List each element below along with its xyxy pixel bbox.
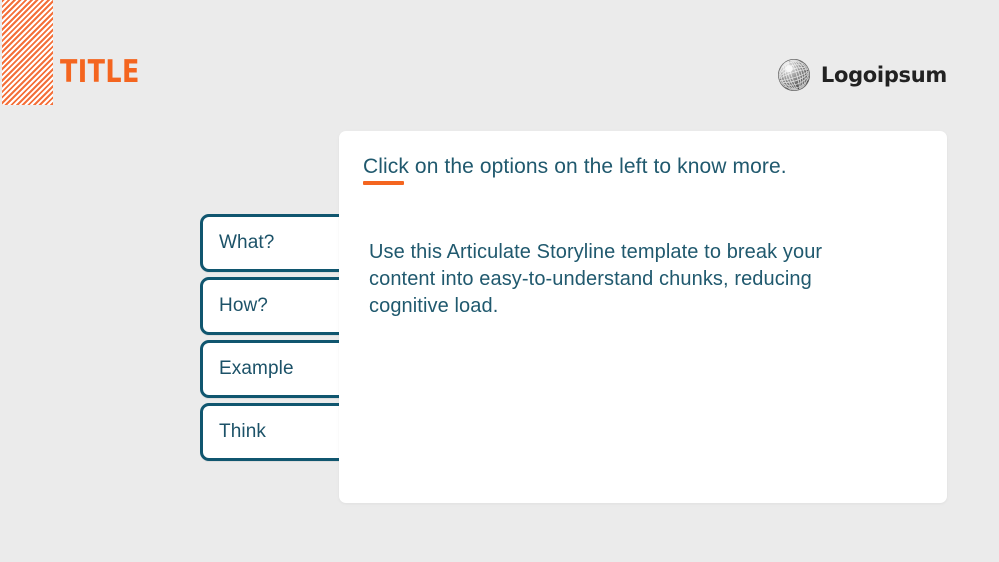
sidebar-item-label: Example xyxy=(219,358,294,380)
content-card: Click on the options on the left to know… xyxy=(339,131,947,503)
slide-canvas: TITLE xyxy=(0,0,999,562)
logo: Logoipsum xyxy=(776,57,947,93)
card-heading: Click on the options on the left to know… xyxy=(363,155,787,179)
page-title: TITLE xyxy=(60,57,140,88)
sidebar-item-label: What? xyxy=(219,232,274,254)
sidebar-item-label: How? xyxy=(219,295,268,317)
card-body-text: Use this Articulate Storyline template t… xyxy=(369,239,893,320)
logo-text: Logoipsum xyxy=(821,63,947,87)
heading-accent-underline xyxy=(363,181,404,185)
diagonal-stripes-pattern-icon xyxy=(2,0,53,105)
sidebar-item-label: Think xyxy=(219,421,266,443)
sphere-globe-logo-icon xyxy=(776,57,812,93)
